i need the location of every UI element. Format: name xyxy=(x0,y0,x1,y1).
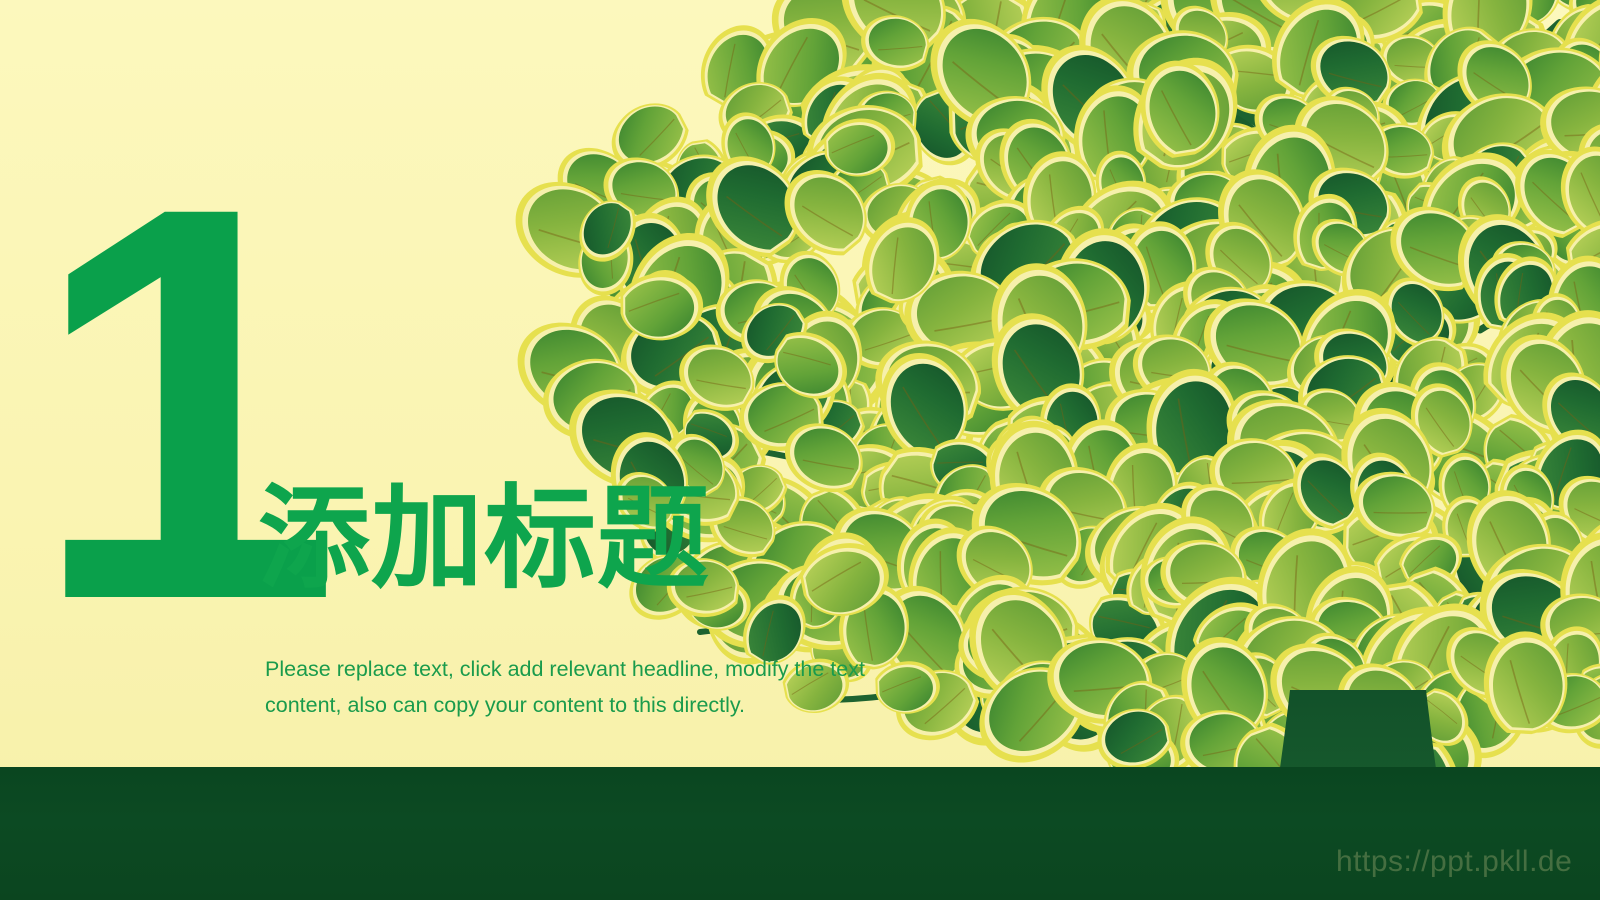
page-title: 添加标题 xyxy=(258,479,710,599)
bottom-band xyxy=(0,767,1600,900)
presentation-slide: 1 添加标题 Please replace text, click add re… xyxy=(0,0,1600,900)
section-number: 1 xyxy=(30,168,260,638)
watermark-url: https://ppt.pkll.de xyxy=(1336,845,1572,879)
body-text: Please replace text, click add relevant … xyxy=(265,651,880,723)
